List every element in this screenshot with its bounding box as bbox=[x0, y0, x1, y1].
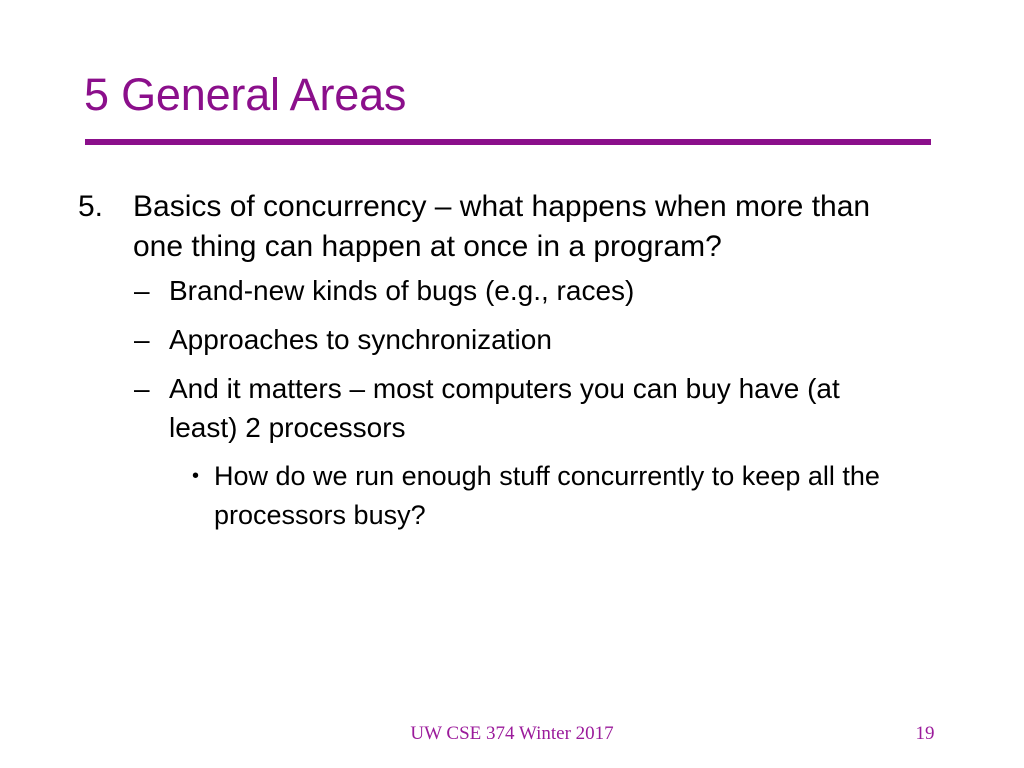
list-item-text: How do we run enough stuff concurrently … bbox=[214, 457, 894, 535]
title-underline-rule bbox=[85, 139, 931, 145]
list-item-text: Approaches to synchronization bbox=[169, 320, 909, 359]
list-item: 5. Basics of concurrency – what happens … bbox=[78, 187, 978, 267]
list-marker-bullet-icon: • bbox=[192, 457, 214, 496]
list-item: – Approaches to synchronization bbox=[134, 320, 978, 359]
page-title: 5 General Areas bbox=[84, 68, 944, 122]
list-item: – Brand-new kinds of bugs (e.g., races) bbox=[134, 271, 978, 310]
slide-body: 5. Basics of concurrency – what happens … bbox=[78, 187, 978, 535]
slide: 5 General Areas 5. Basics of concurrency… bbox=[0, 0, 1024, 768]
list-item-text: And it matters – most computers you can … bbox=[169, 369, 909, 447]
list-marker-number: 5. bbox=[78, 187, 133, 227]
list-marker-dash-icon: – bbox=[134, 320, 169, 359]
list-marker-dash-icon: – bbox=[134, 271, 169, 310]
list-item: • How do we run enough stuff concurrentl… bbox=[192, 457, 978, 535]
list-item-text: Basics of concurrency – what happens whe… bbox=[133, 187, 923, 267]
footer-course-label: UW CSE 374 Winter 2017 bbox=[0, 722, 1024, 746]
list-item: – And it matters – most computers you ca… bbox=[134, 369, 978, 447]
list-marker-dash-icon: – bbox=[134, 369, 169, 408]
footer-page-number: 19 bbox=[880, 722, 970, 746]
list-item-text: Brand-new kinds of bugs (e.g., races) bbox=[169, 271, 909, 310]
